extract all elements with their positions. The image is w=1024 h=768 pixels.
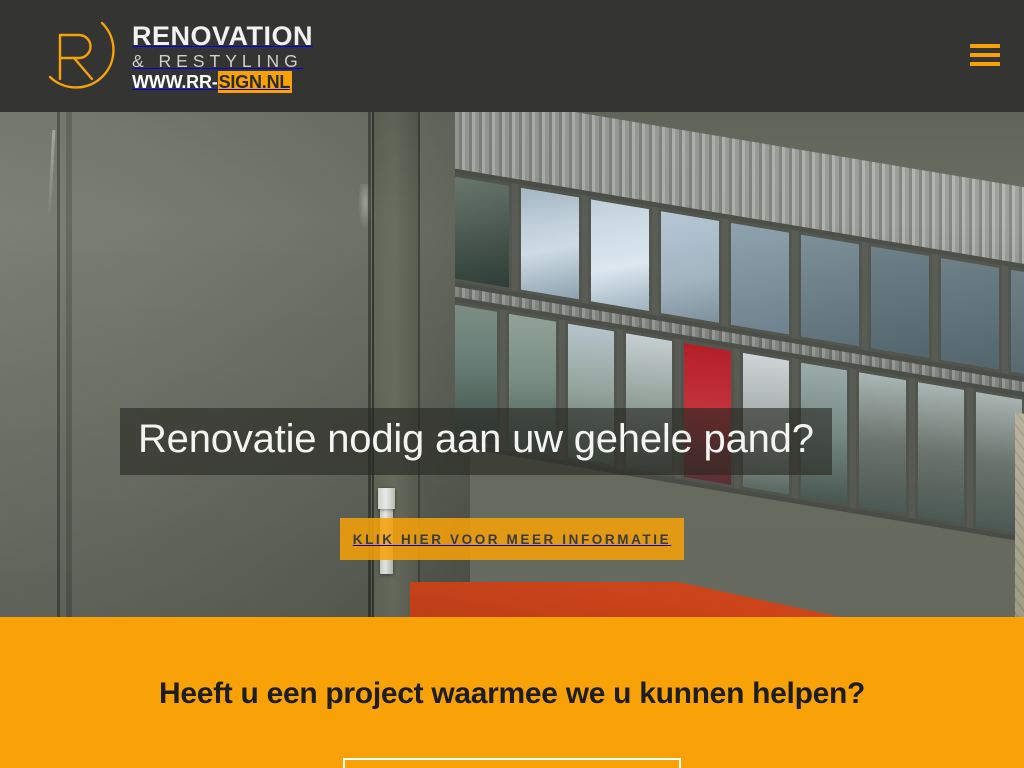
hamburger-bar-top — [970, 44, 1000, 48]
window-pane — [798, 231, 862, 350]
window-pane — [588, 196, 652, 315]
orange-brick-plinth — [410, 582, 1024, 617]
window-pane — [868, 243, 932, 362]
window-pane — [455, 173, 512, 292]
site-logo[interactable]: RENOVATION & RESTYLING WWW.RR-SIGN.NL — [30, 12, 313, 100]
logo-line-url: WWW.RR-SIGN.NL — [132, 72, 292, 92]
window-pane — [658, 208, 722, 327]
page-root: RENOVATION & RESTYLING WWW.RR-SIGN.NL — [0, 0, 1024, 768]
contact-cta-button[interactable]: NEEM CONTACT OP — [343, 758, 681, 768]
door-handle-plate — [378, 488, 395, 509]
hero-heading-overlay: Renovatie nodig aan uw gehele pand? — [120, 408, 832, 475]
panel-seam — [66, 112, 72, 617]
hero-heading: Renovatie nodig aan uw gehele pand? — [138, 416, 814, 463]
wall-scuff-mark — [358, 184, 372, 230]
hero-cta-label: KLIK HIER VOOR MEER INFORMATIE — [353, 532, 672, 547]
plinth-area — [0, 582, 1024, 617]
logo-url-prefix: WWW.RR- — [132, 72, 218, 92]
site-header: RENOVATION & RESTYLING WWW.RR-SIGN.NL — [0, 0, 1024, 112]
letter-r-circle-logo-icon — [30, 13, 120, 99]
hamburger-bar-bottom — [970, 62, 1000, 66]
window-pane — [728, 219, 792, 338]
hamburger-bar-middle — [970, 53, 1000, 57]
window-pane — [856, 369, 908, 518]
window-pane — [938, 254, 1002, 373]
logo-wordmark: RENOVATION & RESTYLING WWW.RR-SIGN.NL — [132, 19, 313, 94]
hamburger-menu-icon[interactable] — [968, 40, 1002, 70]
contact-cta-section: Heeft u een project waarmee we u kunnen … — [0, 617, 1024, 768]
panel-seam — [57, 112, 60, 617]
hero-cta-button[interactable]: KLIK HIER VOOR MEER INFORMATIE — [340, 518, 684, 560]
hero-section: Renovatie nodig aan uw gehele pand? KLIK… — [0, 112, 1024, 617]
logo-url-highlight: SIGN.NL — [218, 71, 293, 93]
window-pane — [1008, 266, 1024, 385]
wall-scuff-mark — [48, 130, 56, 220]
cta-section-heading: Heeft u een project waarmee we u kunnen … — [0, 677, 1024, 711]
logo-line-renovation: RENOVATION — [132, 21, 313, 51]
window-pane — [915, 379, 967, 528]
window-pane — [518, 184, 582, 303]
logo-line-restyling: & RESTYLING — [132, 51, 313, 72]
